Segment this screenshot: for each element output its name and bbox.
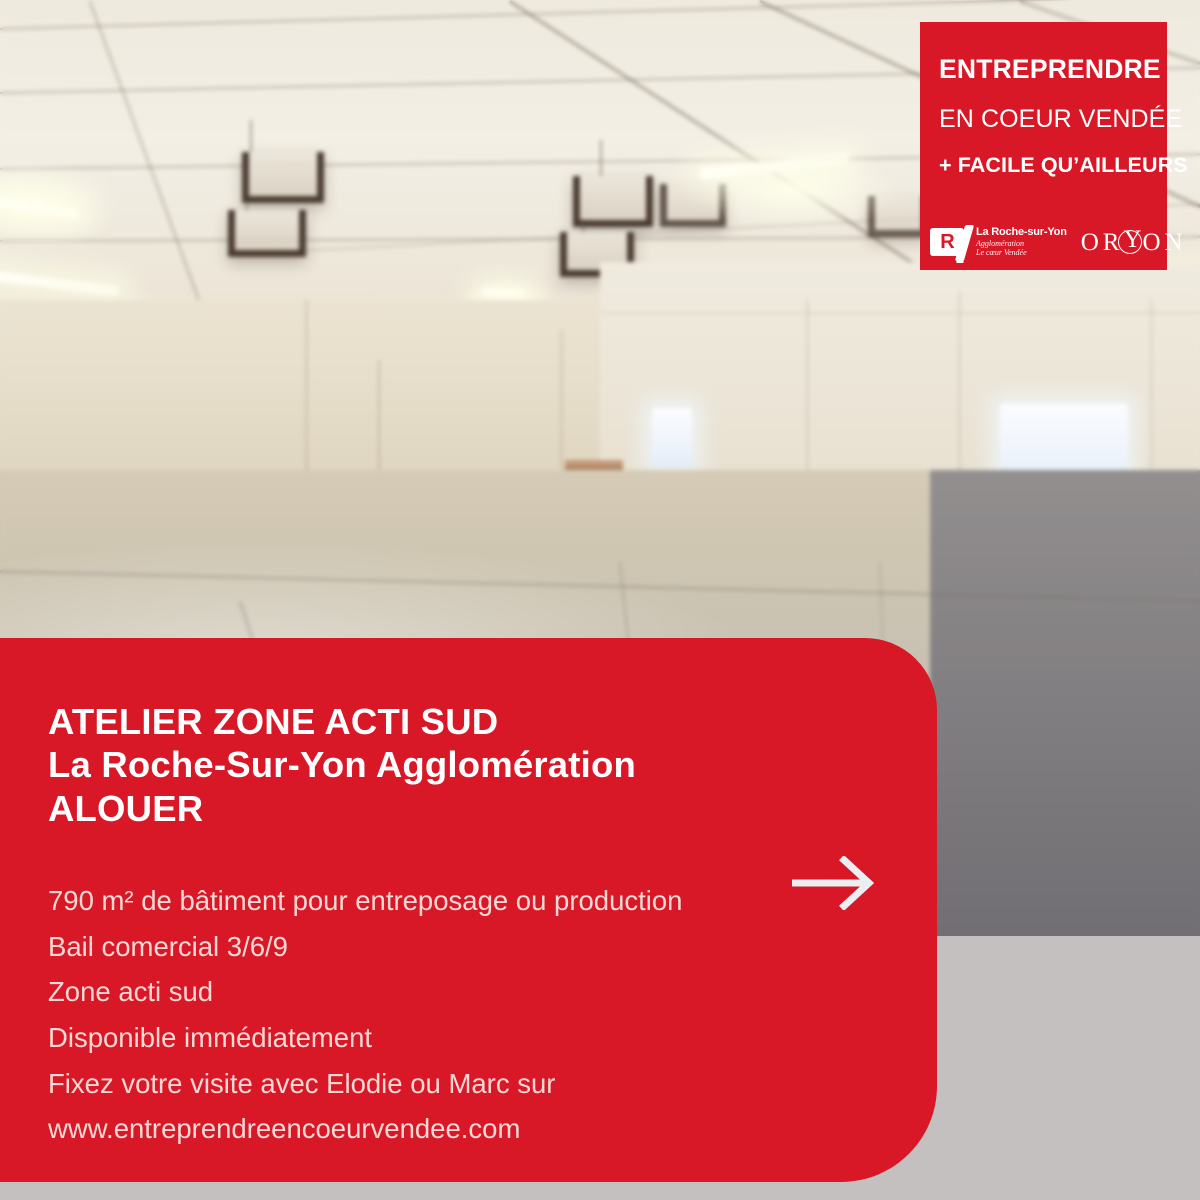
badge-line-3: + FACILE QU’AILLEURS xyxy=(939,155,1188,177)
website-url[interactable]: www.entreprendreencoeurvendee.com xyxy=(48,1106,888,1152)
card-body: 790 m² de bâtiment pour entreposage ou p… xyxy=(48,878,888,1152)
oryon-part2: ON xyxy=(1142,230,1186,255)
oryon-logo: OR Y ON xyxy=(1081,229,1187,255)
badge-line-2: EN COEUR VENDÉE xyxy=(939,107,1182,132)
oryon-letter-y: Y xyxy=(1123,227,1145,252)
ry-letter: R xyxy=(940,232,953,252)
la-roche-sub1: Agglomération xyxy=(976,239,1067,248)
la-roche-sur-yon-logo: R La Roche-sur-Yon Agglomération Le cœur… xyxy=(930,227,1067,257)
body-line-1: 790 m² de bâtiment pour entreposage ou p… xyxy=(48,878,888,924)
title-line-2: La Roche-Sur-Yon Agglomération xyxy=(48,743,878,786)
la-roche-name: La Roche-sur-Yon xyxy=(976,227,1067,239)
body-line-5: Fixez votre visite avec Elodie ou Marc s… xyxy=(48,1061,888,1107)
body-line-4: Disponible immédiatement xyxy=(48,1015,888,1061)
title-line-1: ATELIER ZONE ACTI SUD xyxy=(48,700,878,743)
body-line-3: Zone acti sud xyxy=(48,969,888,1015)
badge-line-1: ENTREPRENDRE xyxy=(939,56,1161,83)
body-line-2: Bail comercial 3/6/9 xyxy=(48,924,888,970)
poster-canvas: ENTREPRENDRE EN COEUR VENDÉE + FACILE QU… xyxy=(0,0,1200,1200)
arrow-right-icon[interactable] xyxy=(790,856,876,910)
la-roche-sub2: Le cœur Vendée xyxy=(976,248,1067,257)
entreprendre-badge: ENTREPRENDRE EN COEUR VENDÉE + FACILE QU… xyxy=(920,22,1167,270)
ry-slash-icon xyxy=(955,225,974,261)
la-roche-text-block: La Roche-sur-Yon Agglomération Le cœur V… xyxy=(976,227,1067,257)
oryon-y-slot: Y xyxy=(1123,229,1142,255)
info-card: ATELIER ZONE ACTI SUD La Roche-Sur-Yon A… xyxy=(0,638,937,1182)
card-title: ATELIER ZONE ACTI SUD La Roche-Sur-Yon A… xyxy=(48,700,878,830)
badge-logo-row: R La Roche-sur-Yon Agglomération Le cœur… xyxy=(930,214,1160,270)
title-line-3: ALOUER xyxy=(48,787,878,830)
oryon-part1: OR xyxy=(1081,230,1124,255)
ry-mark-icon: R xyxy=(930,228,964,256)
